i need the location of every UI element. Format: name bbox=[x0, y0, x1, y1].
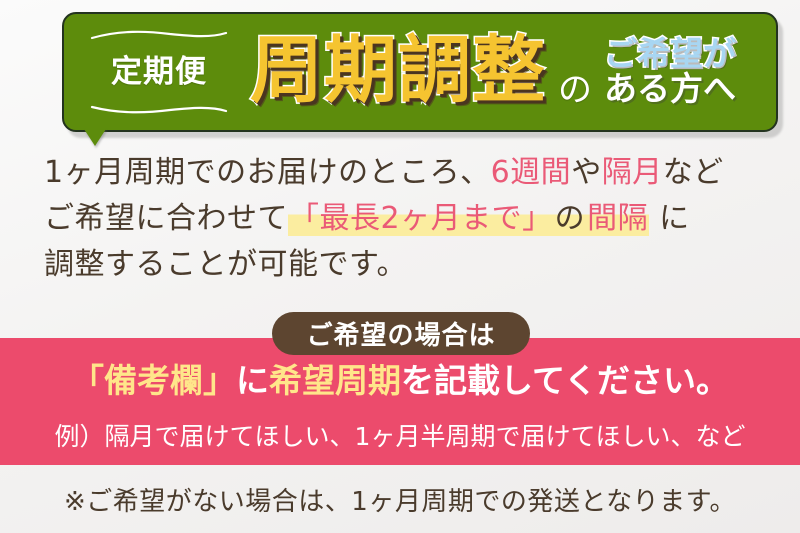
subscription-label: 定期便 bbox=[111, 57, 207, 88]
body-line2-part2: に bbox=[649, 201, 690, 236]
pink-headline-mid1: に bbox=[236, 361, 269, 400]
body-text-block: 1ヶ月周期でのお届けのところ、6週間や隔月など ご希望に合わせて「最長2ヶ月まで… bbox=[44, 150, 774, 288]
headline-title: 周期調整 bbox=[250, 34, 546, 107]
header-panel: 定期便 周期調整 の ご希望が ある方へ bbox=[62, 12, 778, 132]
body-line2-part1: ご希望に合わせて bbox=[44, 201, 288, 236]
headline-subtext-line2: ある方へ bbox=[604, 72, 736, 107]
request-case-badge-label: ご希望の場合は bbox=[306, 315, 495, 352]
body-line-1: 1ヶ月周期でのお届けのところ、6週間や隔月など bbox=[44, 150, 774, 196]
subscription-label-block: 定期便 bbox=[90, 29, 228, 115]
body-line1-emph-bimonthly: 隔月 bbox=[602, 155, 663, 190]
headline-particle: の bbox=[558, 62, 592, 111]
request-case-badge: ご希望の場合は bbox=[272, 312, 530, 355]
body-line1-part3: など bbox=[663, 155, 724, 190]
body-line1-part1: 1ヶ月周期でのお届けのところ、 bbox=[44, 155, 491, 190]
body-line2-highlight-interval: 間隔 bbox=[586, 201, 649, 236]
body-line1-emph-6weeks: 6週間 bbox=[491, 155, 572, 190]
promo-banner: 定期便 周期調整 の ご希望が ある方へ 1ヶ月周期でのお届けのところ、6週間や… bbox=[0, 0, 800, 533]
body-line-3: 調整することが可能です。 bbox=[44, 242, 774, 288]
pink-headline-mid2: を記載してください。 bbox=[401, 361, 729, 400]
body-line2-highlight-maxtwomonths: 「最長2ヶ月まで」 bbox=[288, 201, 554, 236]
headline-subtext: ご希望が ある方へ bbox=[604, 37, 736, 107]
wave-line-bottom-icon bbox=[90, 103, 228, 115]
wave-line-top-icon bbox=[90, 29, 228, 41]
pink-example-text: 例）隔月で届けてほしい、1ヶ月半周期で届けてほしい、など bbox=[0, 423, 800, 451]
body-line2-highlight-no: の bbox=[554, 201, 587, 236]
pink-headline-emph-cycle: 希望周期 bbox=[269, 361, 401, 400]
speech-bubble-tail-icon bbox=[84, 129, 106, 146]
pink-headline-emph-remarks: 「備考欄」 bbox=[71, 361, 236, 400]
body-line-2: ご希望に合わせて「最長2ヶ月まで」の間隔 に bbox=[44, 196, 774, 242]
footnote-text: ※ご希望がない場合は、1ヶ月周期での発送となります。 bbox=[0, 481, 800, 518]
headline-subtext-line1: ご希望が bbox=[604, 37, 736, 72]
pink-headline: 「備考欄」に希望周期を記載してください。 bbox=[0, 363, 800, 399]
header-banner: 定期便 周期調整 の ご希望が ある方へ bbox=[62, 12, 778, 132]
body-line1-part2: や bbox=[571, 155, 602, 190]
